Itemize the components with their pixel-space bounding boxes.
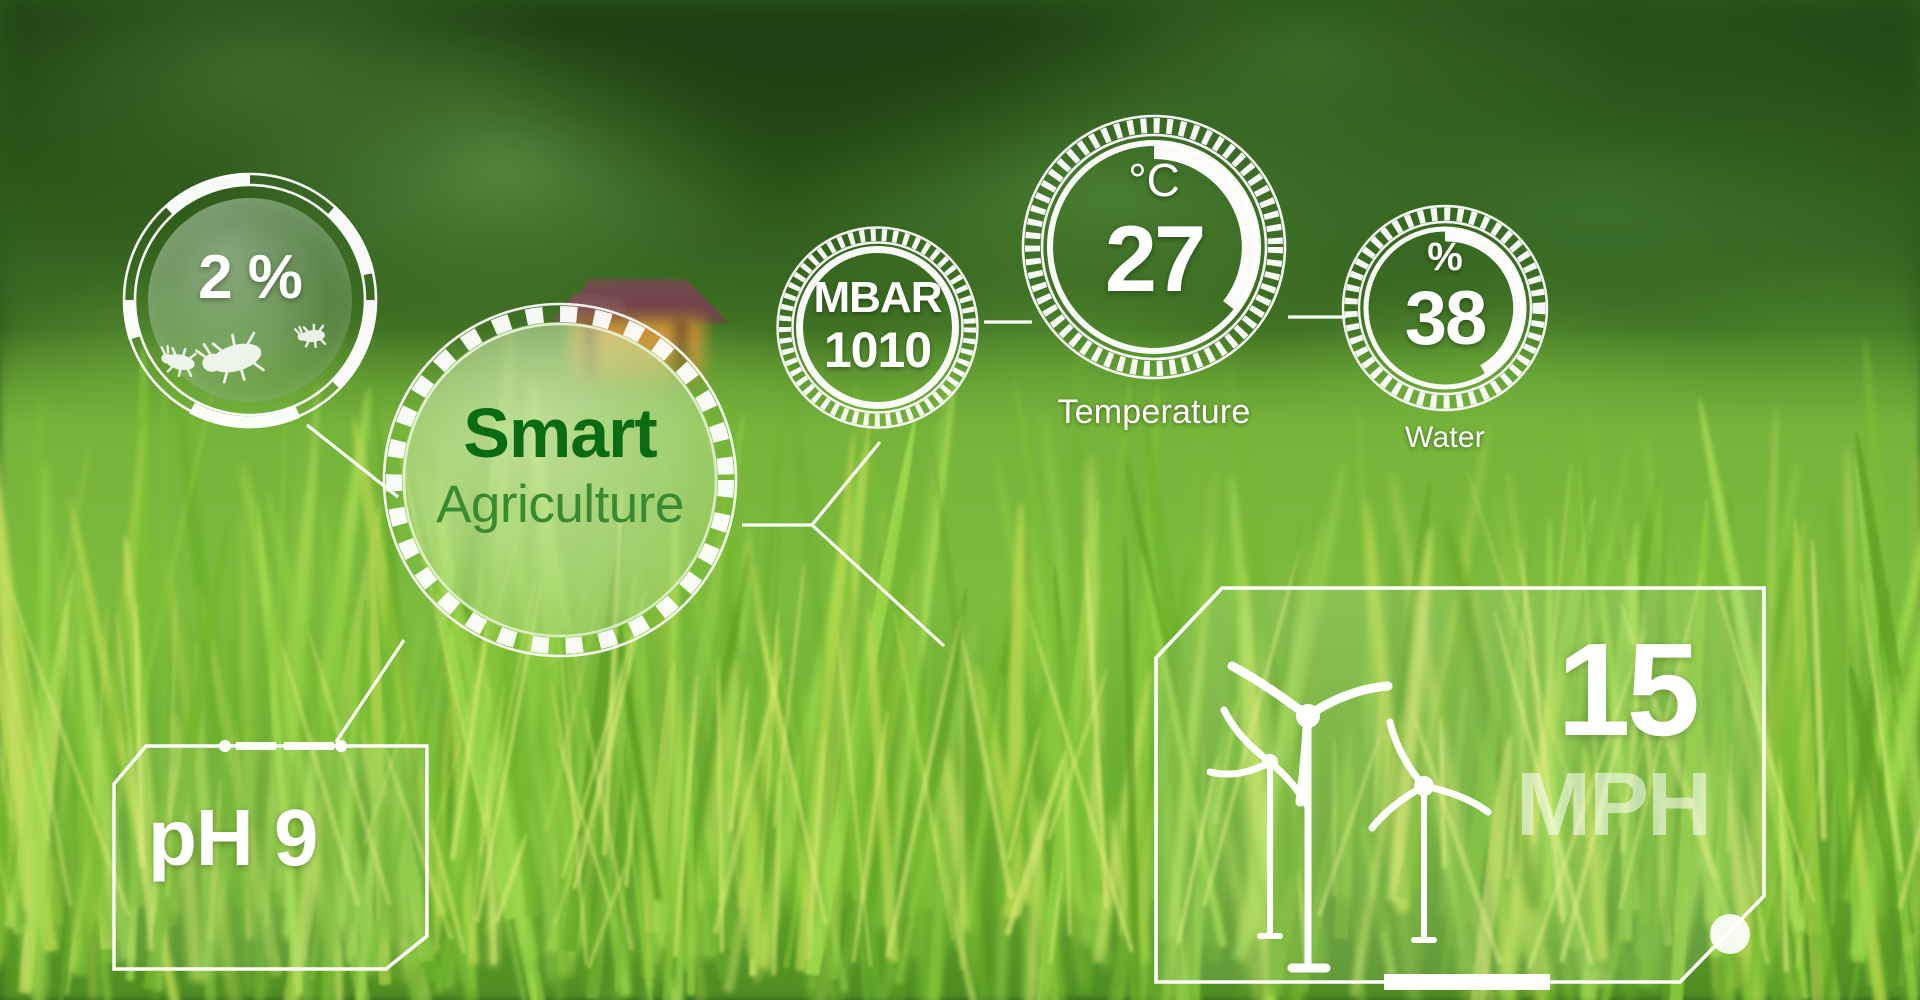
wind-turbine-icon xyxy=(1184,638,1514,968)
brand-subtitle: Agriculture xyxy=(380,478,740,531)
bug-icon xyxy=(150,320,350,390)
brand-title: Smart xyxy=(380,398,740,468)
pressure-gauge[interactable]: MBAR 1010 xyxy=(775,225,980,430)
ph-panel[interactable]: pH 9 xyxy=(108,740,433,975)
wind-value: 15 xyxy=(1557,624,1696,756)
pest-value: 2 % xyxy=(120,242,380,313)
water-value: 38 xyxy=(1340,275,1550,362)
water-unit: % xyxy=(1340,235,1550,280)
dashboard-scene: 2 % xyxy=(0,0,1920,1000)
pest-gauge[interactable]: 2 % xyxy=(120,170,380,430)
temperature-unit: °C xyxy=(1020,153,1288,207)
smart-agriculture-badge[interactable]: Smart Agriculture xyxy=(380,300,740,660)
wind-panel[interactable]: 15 MPH xyxy=(1150,582,1770,1000)
temperature-value: 27 xyxy=(1020,205,1288,313)
pressure-unit: MBAR xyxy=(775,273,980,323)
temperature-label: Temperature xyxy=(1020,393,1288,432)
ph-value: pH 9 xyxy=(148,792,398,884)
water-label: Water xyxy=(1340,421,1550,455)
water-gauge[interactable]: % 38 Water xyxy=(1340,203,1550,413)
pressure-value: 1010 xyxy=(775,321,980,379)
wind-unit: MPH xyxy=(1516,760,1710,850)
temperature-gauge[interactable]: °C 27 Temperature xyxy=(1020,113,1288,381)
